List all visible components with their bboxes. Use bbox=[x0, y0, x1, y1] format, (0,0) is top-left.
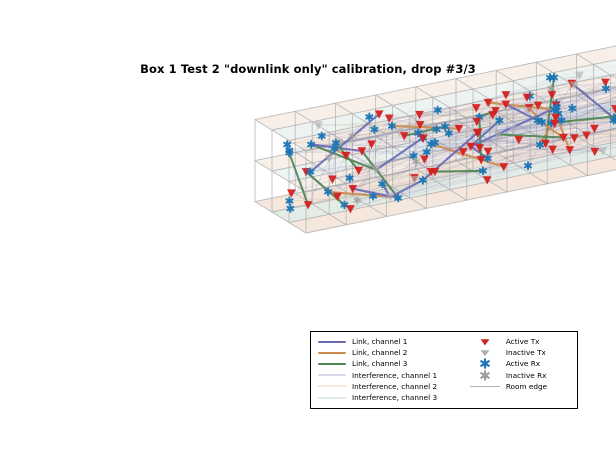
legend-line-swatch bbox=[317, 370, 347, 381]
legend-line-swatch bbox=[317, 336, 347, 347]
legend-label: Interference, channel 3 bbox=[352, 392, 437, 403]
legend-item-marker-1: Active Tx bbox=[468, 336, 571, 347]
legend-line-swatch bbox=[317, 381, 347, 392]
legend-label: Active Rx bbox=[506, 358, 540, 369]
legend-label: Room edge bbox=[506, 381, 547, 392]
legend-label: Link, channel 1 bbox=[352, 336, 407, 347]
legend-label: Active Tx bbox=[506, 336, 540, 347]
legend-line-swatch bbox=[317, 392, 347, 403]
rx-star-icon bbox=[468, 358, 502, 369]
legend-item-marker-5: Room edge bbox=[468, 381, 571, 392]
plot-legend: Link, channel 1Link, channel 2Link, chan… bbox=[310, 331, 578, 409]
figure-canvas: Box 1 Test 2 "downlink only" calibration… bbox=[0, 0, 616, 462]
legend-item-line-5: Interference, channel 2 bbox=[317, 381, 468, 392]
legend-line-swatch bbox=[317, 358, 347, 369]
legend-lines-column: Link, channel 1Link, channel 2Link, chan… bbox=[317, 336, 468, 403]
legend-item-line-2: Link, channel 2 bbox=[317, 347, 468, 358]
tx-triangle-icon bbox=[468, 347, 502, 358]
legend-markers-column: Active TxInactive TxActive RxInactive Rx… bbox=[468, 336, 571, 392]
legend-label: Link, channel 3 bbox=[352, 358, 407, 369]
legend-label: Interference, channel 2 bbox=[352, 381, 437, 392]
legend-item-marker-4: Inactive Rx bbox=[468, 370, 571, 381]
legend-item-line-4: Interference, channel 1 bbox=[317, 370, 468, 381]
legend-label: Inactive Tx bbox=[506, 347, 546, 358]
legend-label: Link, channel 2 bbox=[352, 347, 407, 358]
tx-triangle-icon bbox=[468, 336, 502, 347]
rx-star-icon bbox=[468, 370, 502, 381]
legend-label: Interference, channel 1 bbox=[352, 370, 437, 381]
legend-item-line-1: Link, channel 1 bbox=[317, 336, 468, 347]
legend-item-line-6: Interference, channel 3 bbox=[317, 392, 468, 403]
legend-item-marker-3: Active Rx bbox=[468, 358, 571, 369]
legend-line-swatch bbox=[317, 347, 347, 358]
legend-label: Inactive Rx bbox=[506, 370, 547, 381]
legend-item-marker-2: Inactive Tx bbox=[468, 347, 571, 358]
legend-item-line-3: Link, channel 3 bbox=[317, 358, 468, 369]
room-edge-icon bbox=[468, 381, 502, 392]
